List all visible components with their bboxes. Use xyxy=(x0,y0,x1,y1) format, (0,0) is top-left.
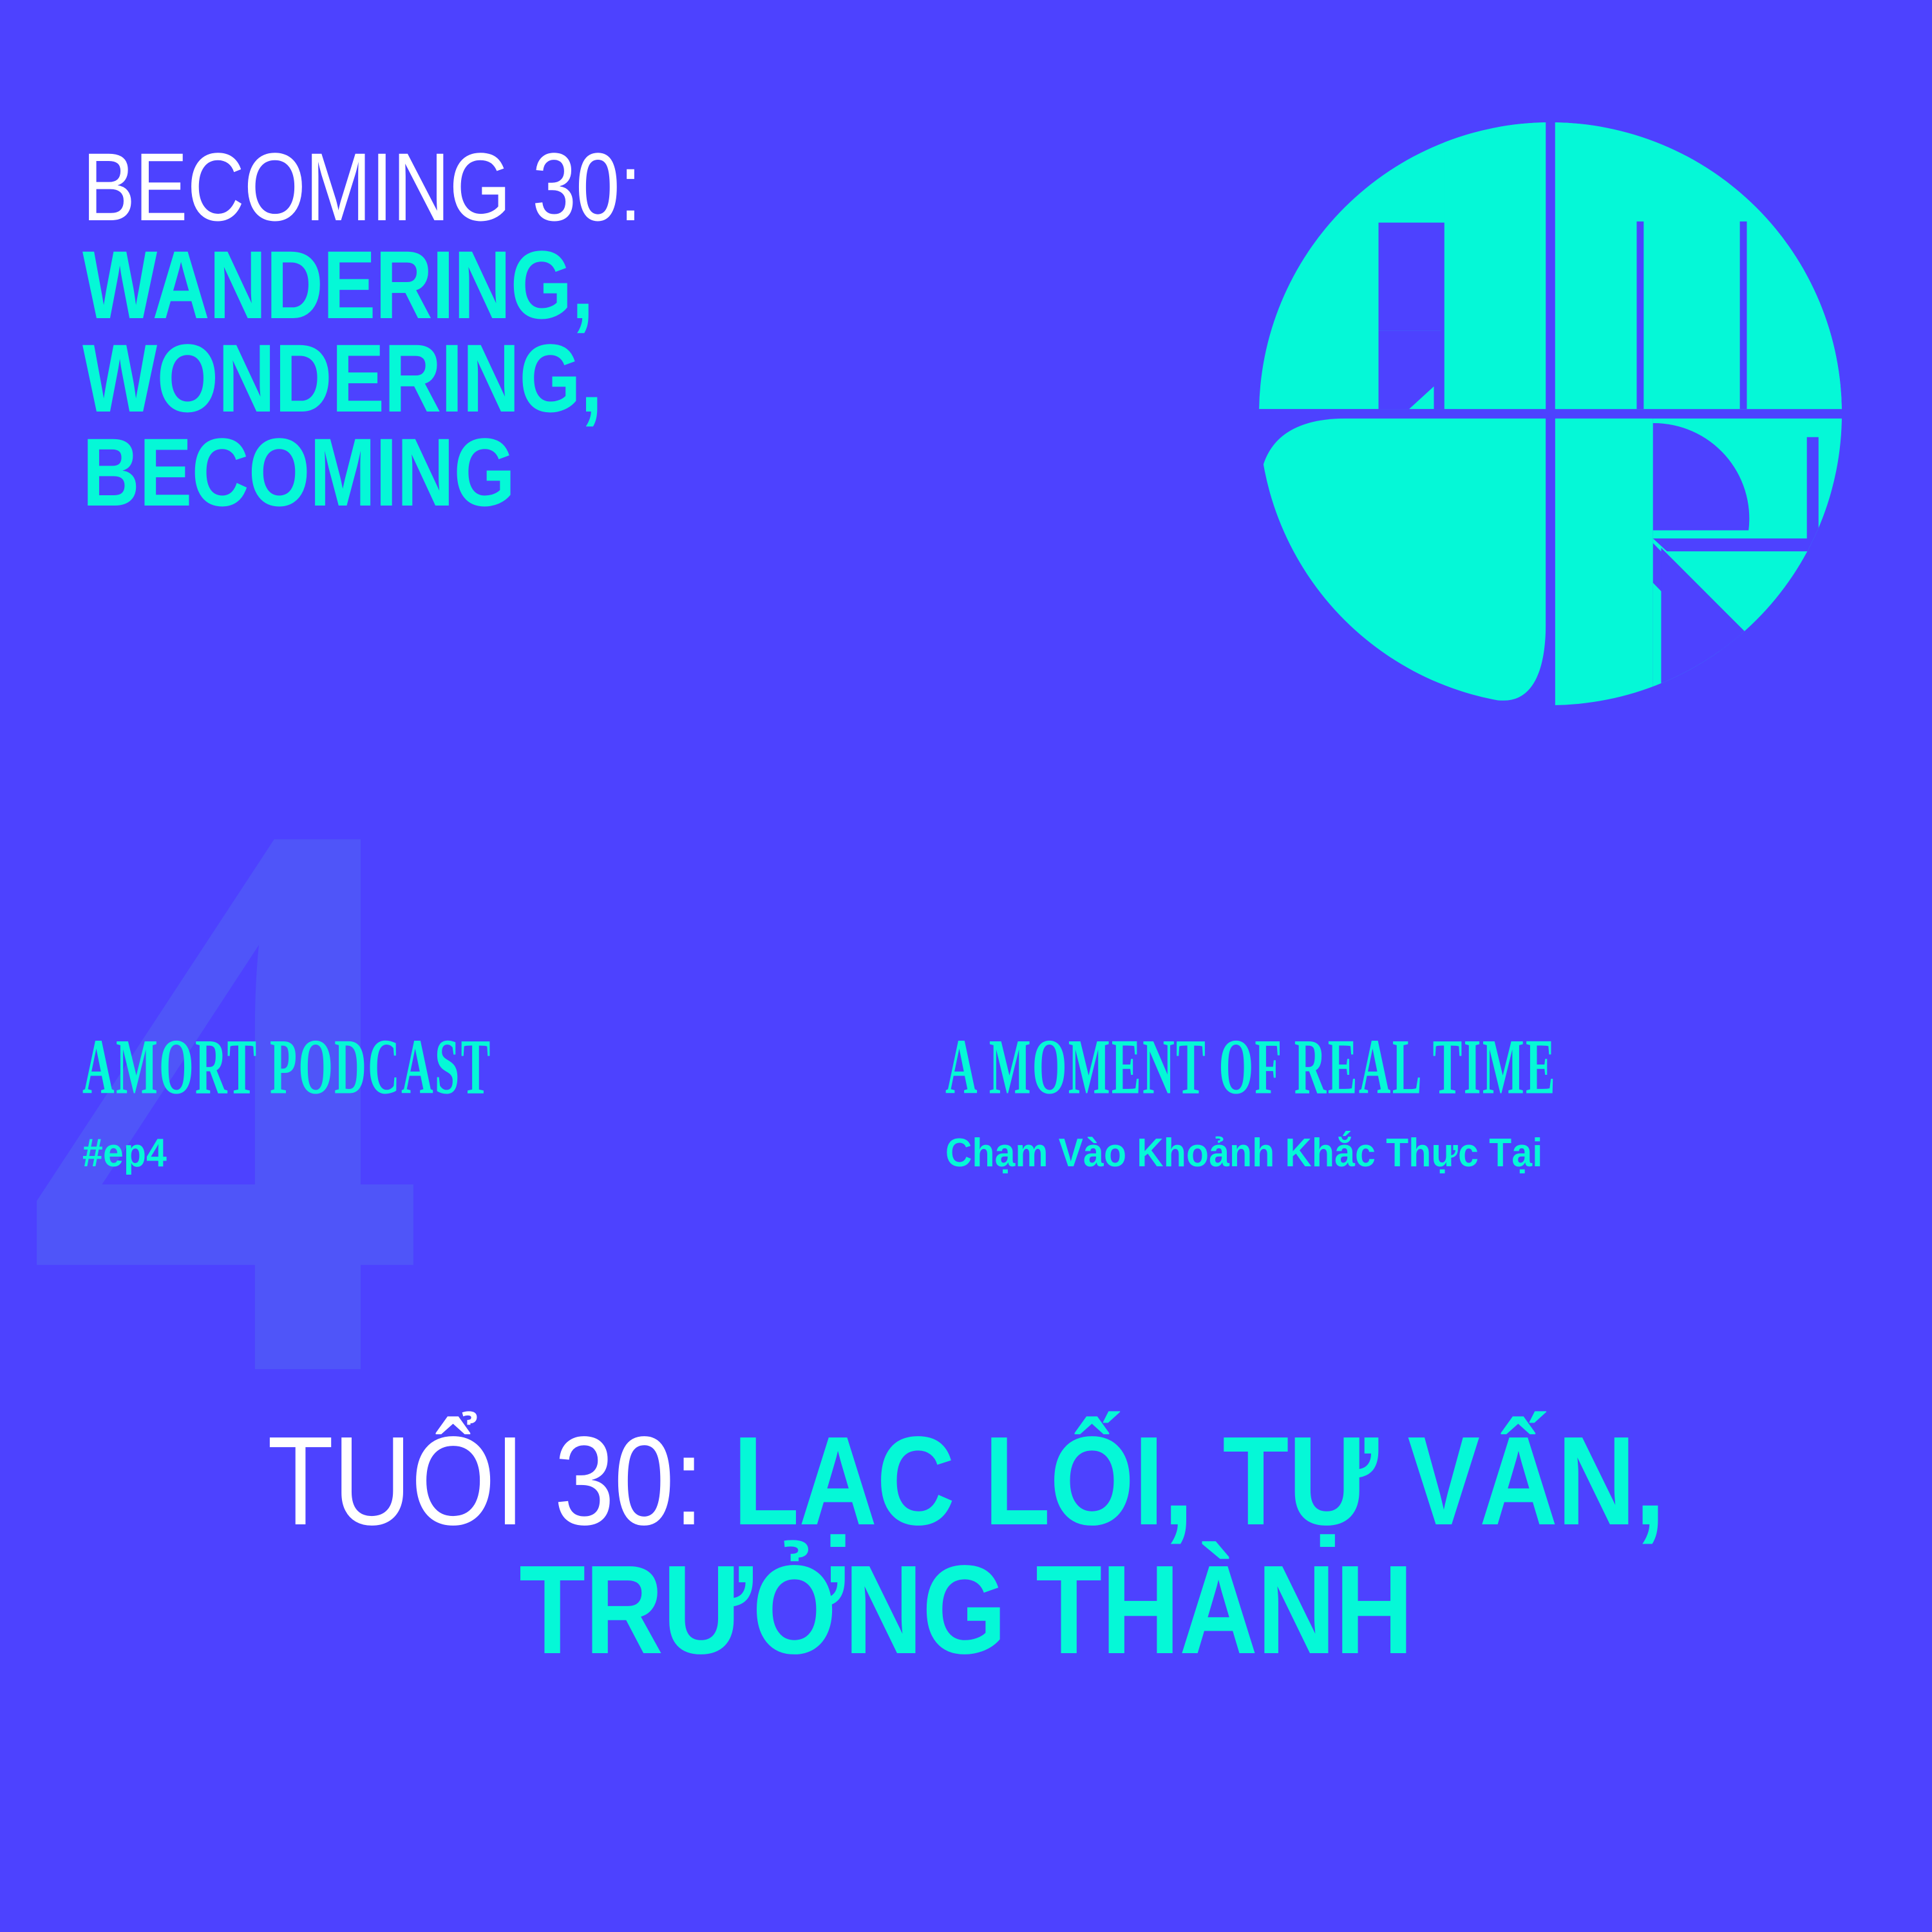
segment-meta-column: A MOMENT OF REAL TIME Chạm Vào Khoảnh Kh… xyxy=(945,1028,1871,1173)
title-line-wondering: WONDERING, xyxy=(82,332,938,426)
title-line-wandering: WANDERING, xyxy=(82,238,938,332)
vietnamese-headline-block: TUỔI 30: LẠC LỐI, TỰ VẤN, TRƯỞNG THÀNH xyxy=(0,1417,1932,1674)
segment-subtitle-label: Chạm Vào Khoảnh Khắc Thực Tại xyxy=(945,1133,1797,1173)
vietnamese-headline-line-1: TUỔI 30: LẠC LỐI, TỰ VẤN, xyxy=(135,1417,1797,1546)
episode-tag-label: #ep4 xyxy=(82,1133,653,1173)
meta-row: AMORT PODCAST #ep4 A MOMENT OF REAL TIME… xyxy=(82,1028,1853,1240)
english-title-block: BECOMING 30: WANDERING, WONDERING, BECOM… xyxy=(82,140,1126,519)
vietnamese-accent-line-1: LẠC LỐI, TỰ VẤN, xyxy=(733,1410,1665,1551)
title-line-becoming-30: BECOMING 30: xyxy=(82,140,938,234)
amort-logo-icon xyxy=(1259,122,1842,705)
title-line-becoming: BECOMING xyxy=(82,426,938,520)
podcast-cover-artwork: 4 BECOMING 30: WANDERING, WONDERING, BEC… xyxy=(0,0,1932,1932)
segment-title-label: A MOMENT OF REAL TIME xyxy=(945,1028,1557,1107)
vietnamese-prefix: TUỔI 30: xyxy=(267,1410,703,1551)
vietnamese-accent-line-2: TRƯỞNG THÀNH xyxy=(135,1546,1797,1674)
show-name-label: AMORT PODCAST xyxy=(82,1028,492,1107)
show-meta-column: AMORT PODCAST #ep4 xyxy=(82,1028,703,1173)
